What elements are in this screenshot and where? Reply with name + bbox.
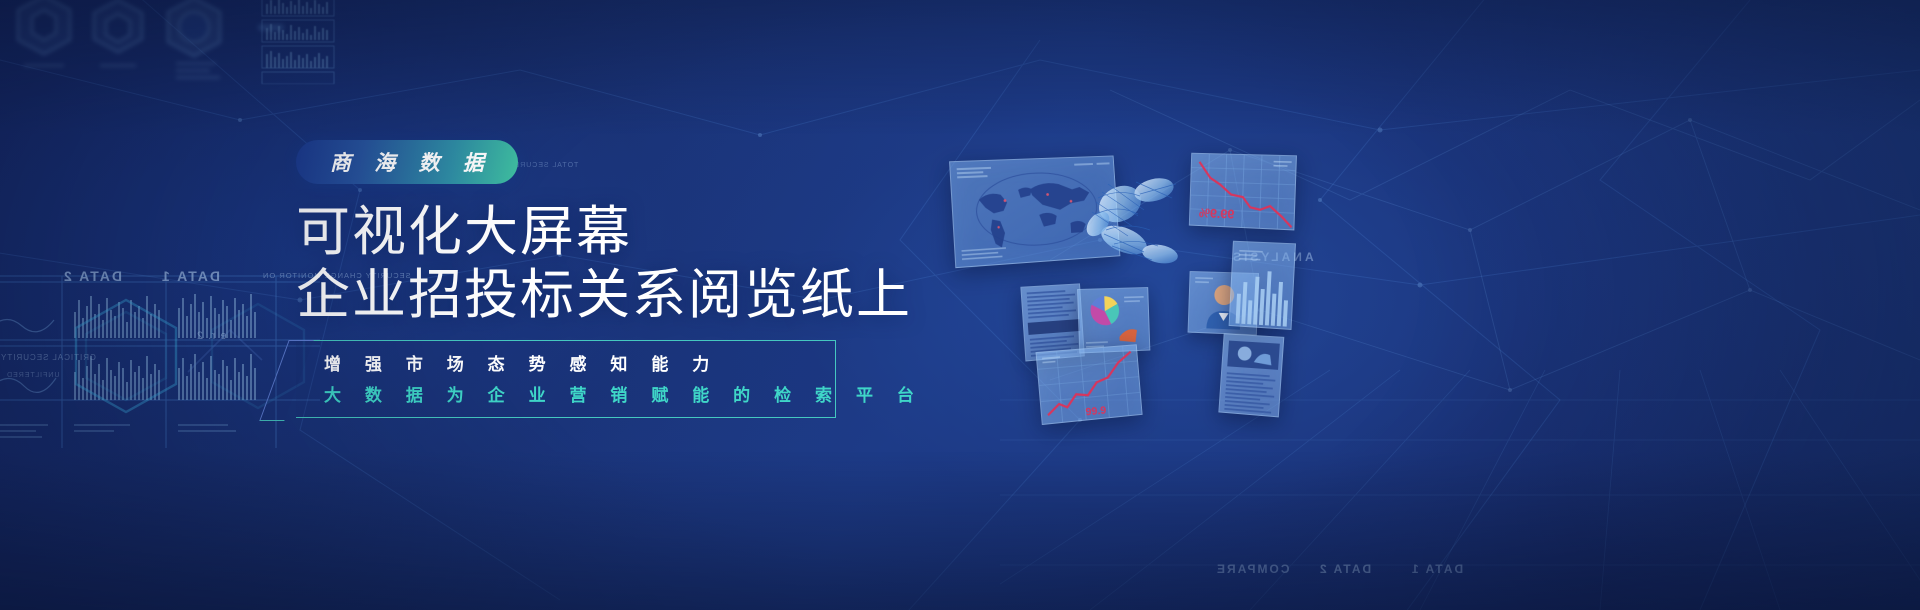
decor-label-critical: CRITICAL SECURITY [0,353,96,362]
up-chart-value: 99.9 [1085,405,1107,419]
headline-block: 可视化大屏幕 企业招投标关系阅览纸上 [296,200,896,326]
decor-label-data2-left: DATA 2 [62,268,122,284]
decor-label-unfiltered: UNFILTERED [6,372,59,379]
subtitle-line-1: 增 强 市 场 态 势 感 知 能 力 [324,350,835,375]
decor-label-data1-left: DATA 1 [160,268,220,284]
down-chart-value: 99.9% [1199,205,1235,222]
hex-gauge-cluster-icon [0,0,300,92]
floating-panels-group: 99.9% [900,120,1920,580]
subtitle-line-2: 大 数 据 为 企 业 营 销 赋 能 的 检 索 平 台 [324,381,835,406]
document-panel-secondary [1218,333,1284,417]
headline-line-1: 可视化大屏幕 [296,200,896,263]
banner-stage: DATA 2 DATA 1 SECURITY CHANGE MONITOR ON… [0,0,1920,610]
banner-content: 商 海 数 据 可视化大屏幕 企业招投标关系阅览纸上 增 强 市 场 态 势 感… [296,140,896,418]
decor-label-sphere: e r. 2 [196,330,226,342]
pie-chart-panel [1077,287,1150,353]
mini-spectrum-cards [258,0,368,84]
brand-badge: 商 海 数 据 [296,140,518,184]
brand-badge-label: 商 海 数 据 [322,147,492,177]
bar-chart-panel [1229,241,1296,330]
declining-line-chart-panel: 99.9% [1189,153,1297,231]
rising-line-chart-panel: 99.9 [1036,344,1143,425]
headline-line-2: 企业招投标关系阅览纸上 [296,263,896,326]
subtitle-box: 增 强 市 场 态 势 感 知 能 力 大 数 据 为 企 业 营 销 赋 能 … [296,340,836,418]
